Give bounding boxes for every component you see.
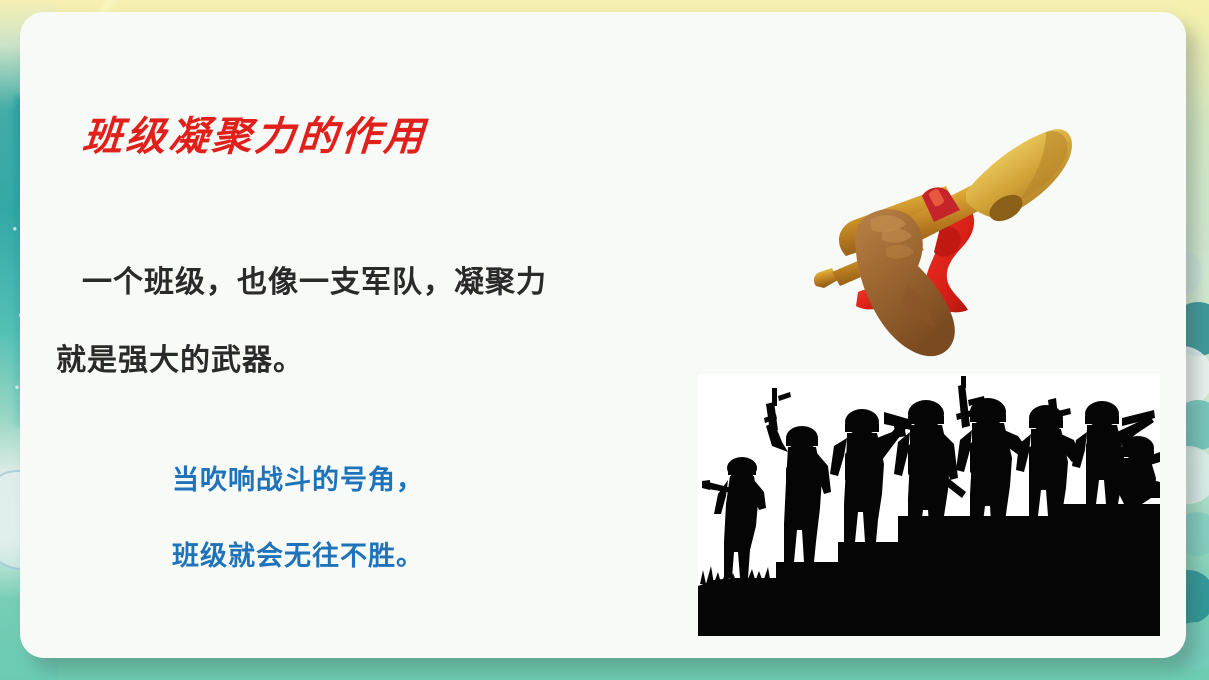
highlight-line-1: 当吹响战斗的号角， bbox=[172, 442, 652, 518]
body-line-2: 就是强大的武器。 bbox=[56, 322, 666, 400]
body-paragraph: 一个班级，也像一支军队，凝聚力 就是强大的武器。 bbox=[56, 244, 666, 400]
slide-canvas: 班级凝聚力的作用 一个班级，也像一支军队，凝聚力 就是强大的武器。 当吹响战斗的… bbox=[0, 0, 1209, 680]
highlight-line-2: 班级就会无往不胜。 bbox=[172, 518, 652, 594]
content-card: 班级凝聚力的作用 一个班级，也像一支军队，凝聚力 就是强大的武器。 当吹响战斗的… bbox=[20, 12, 1186, 658]
page-title: 班级凝聚力的作用 bbox=[81, 104, 429, 162]
trumpet-image bbox=[798, 110, 1098, 360]
highlight-paragraph: 当吹响战斗的号角， 班级就会无往不胜。 bbox=[172, 442, 652, 594]
body-line-1: 一个班级，也像一支军队，凝聚力 bbox=[56, 244, 666, 322]
soldiers-silhouette-image bbox=[698, 374, 1160, 636]
